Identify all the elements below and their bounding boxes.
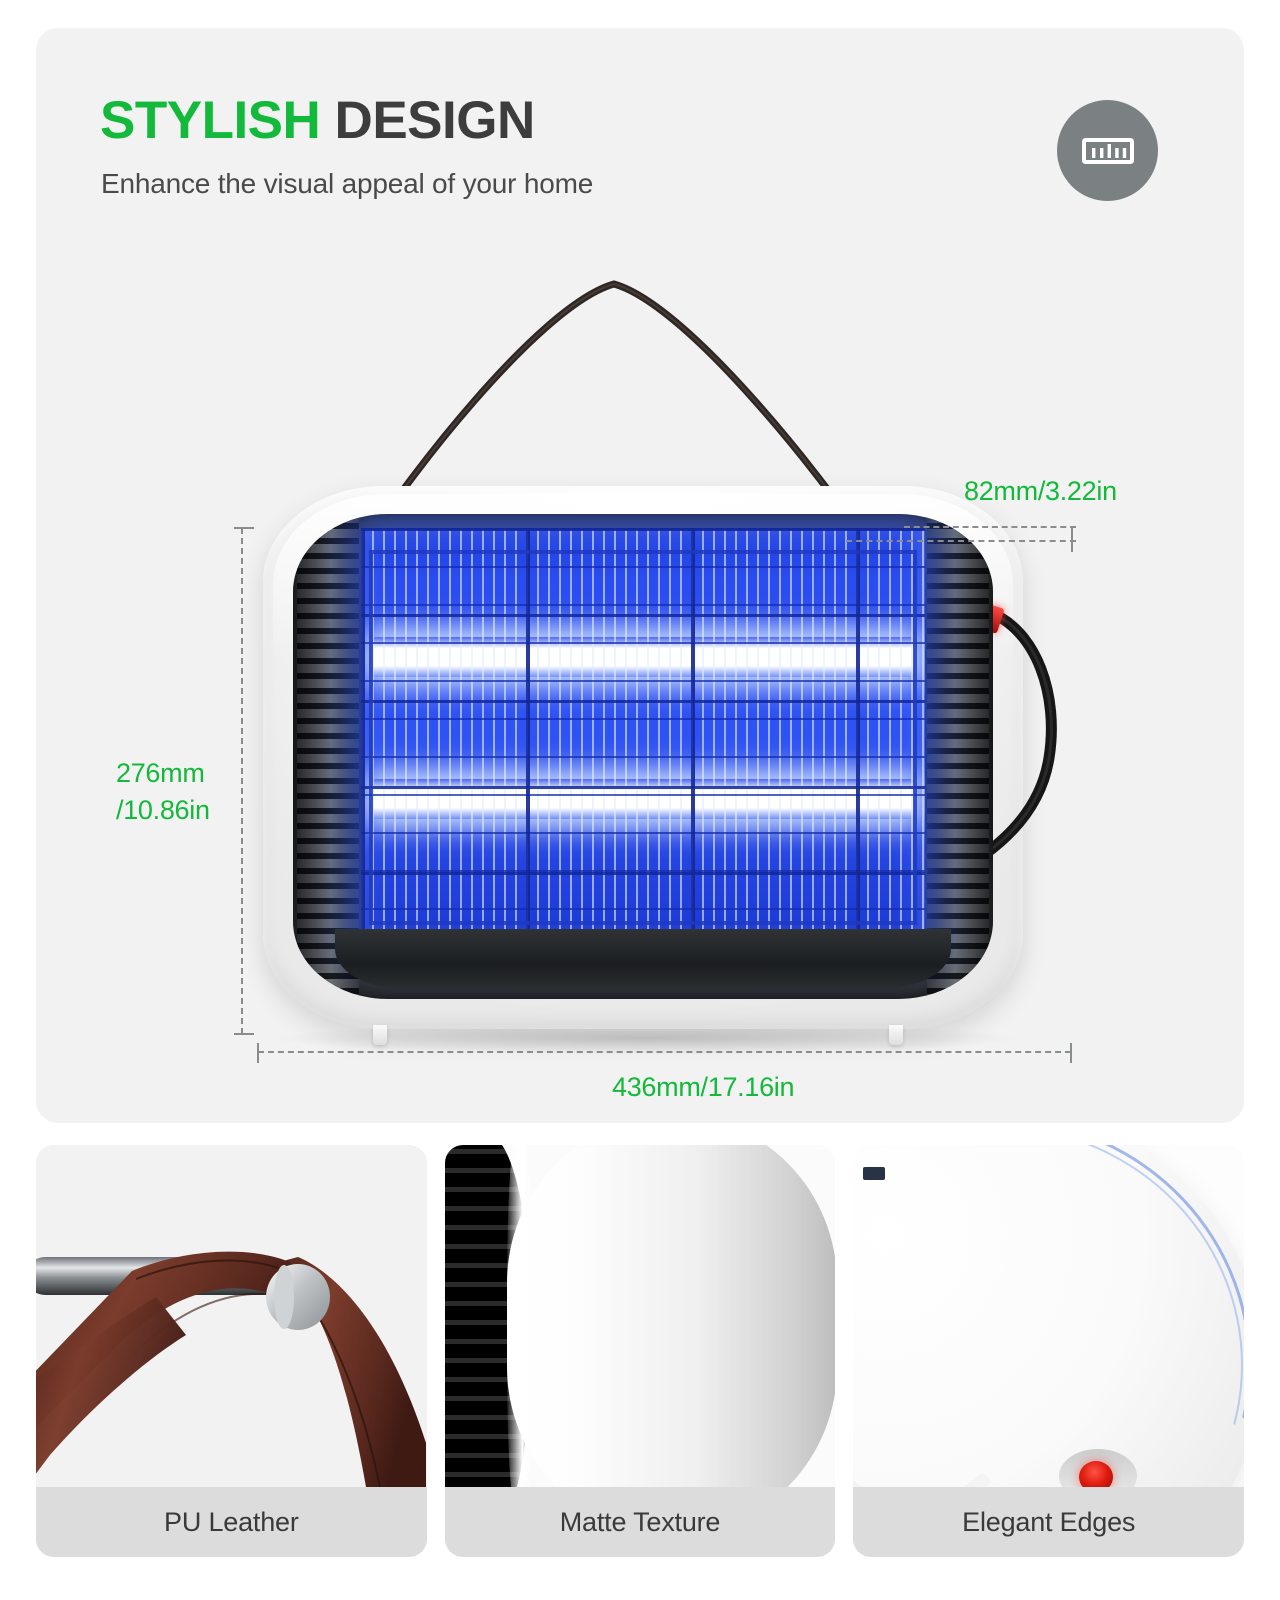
panel-caption-matte-texture: Matte Texture [445, 1487, 836, 1557]
right-vent-louvers [927, 514, 989, 999]
width-dimension-label: 436mm/17.16in [612, 1072, 794, 1103]
left-vent-louvers [297, 514, 359, 999]
leather-strap-photo [36, 1145, 427, 1487]
height-value-mm: 276mm [116, 758, 205, 788]
height-value-in: /10.86in [116, 795, 210, 825]
top-clip-detail [863, 1167, 885, 1180]
feature-panel-elegant-edges[interactable]: Elegant Edges [853, 1145, 1244, 1557]
matte-texture-photo [445, 1145, 836, 1487]
device-foot [373, 1025, 387, 1045]
uv-light-panel [361, 528, 925, 947]
panel-caption-pu-leather: PU Leather [36, 1487, 427, 1557]
hero-card: STYLISH DESIGN Enhance the visual appeal… [36, 28, 1244, 1123]
feature-panel-matte-texture[interactable]: Matte Texture [445, 1145, 836, 1557]
bug-zapper-device [263, 486, 1023, 1029]
width-dimension-line [258, 1051, 1071, 1053]
elegant-edges-photo [853, 1145, 1244, 1487]
panel-caption-elegant-edges: Elegant Edges [853, 1487, 1244, 1557]
depth-dimension-cap [1071, 526, 1073, 552]
device-foot [889, 1025, 903, 1045]
product-illustration: 276mm /10.86in 436mm/17.16in 82mm/3.22in [36, 28, 1244, 1123]
collection-tray [335, 929, 951, 989]
device-bezel [293, 514, 993, 999]
depth-dimension-line-top [904, 526, 1076, 528]
depth-dimension-label: 82mm/3.22in [964, 476, 1117, 507]
product-feature-page: STYLISH DESIGN Enhance the visual appeal… [0, 0, 1280, 1600]
height-dimension-line [241, 528, 243, 1034]
dimension-cap [257, 1043, 259, 1063]
feature-panel-pu-leather[interactable]: PU Leather [36, 1145, 427, 1557]
dimension-cap [234, 527, 254, 529]
dimension-cap [234, 1033, 254, 1035]
height-dimension-label: 276mm /10.86in [116, 755, 210, 830]
edge-highlight [507, 1145, 533, 1487]
feature-panel-row: PU Leather Matte Texture [36, 1145, 1244, 1557]
matte-white-surface [507, 1145, 836, 1487]
dimension-cap [1070, 1043, 1072, 1063]
grid-frame [369, 550, 917, 925]
depth-dimension-line-bottom [846, 540, 1076, 542]
